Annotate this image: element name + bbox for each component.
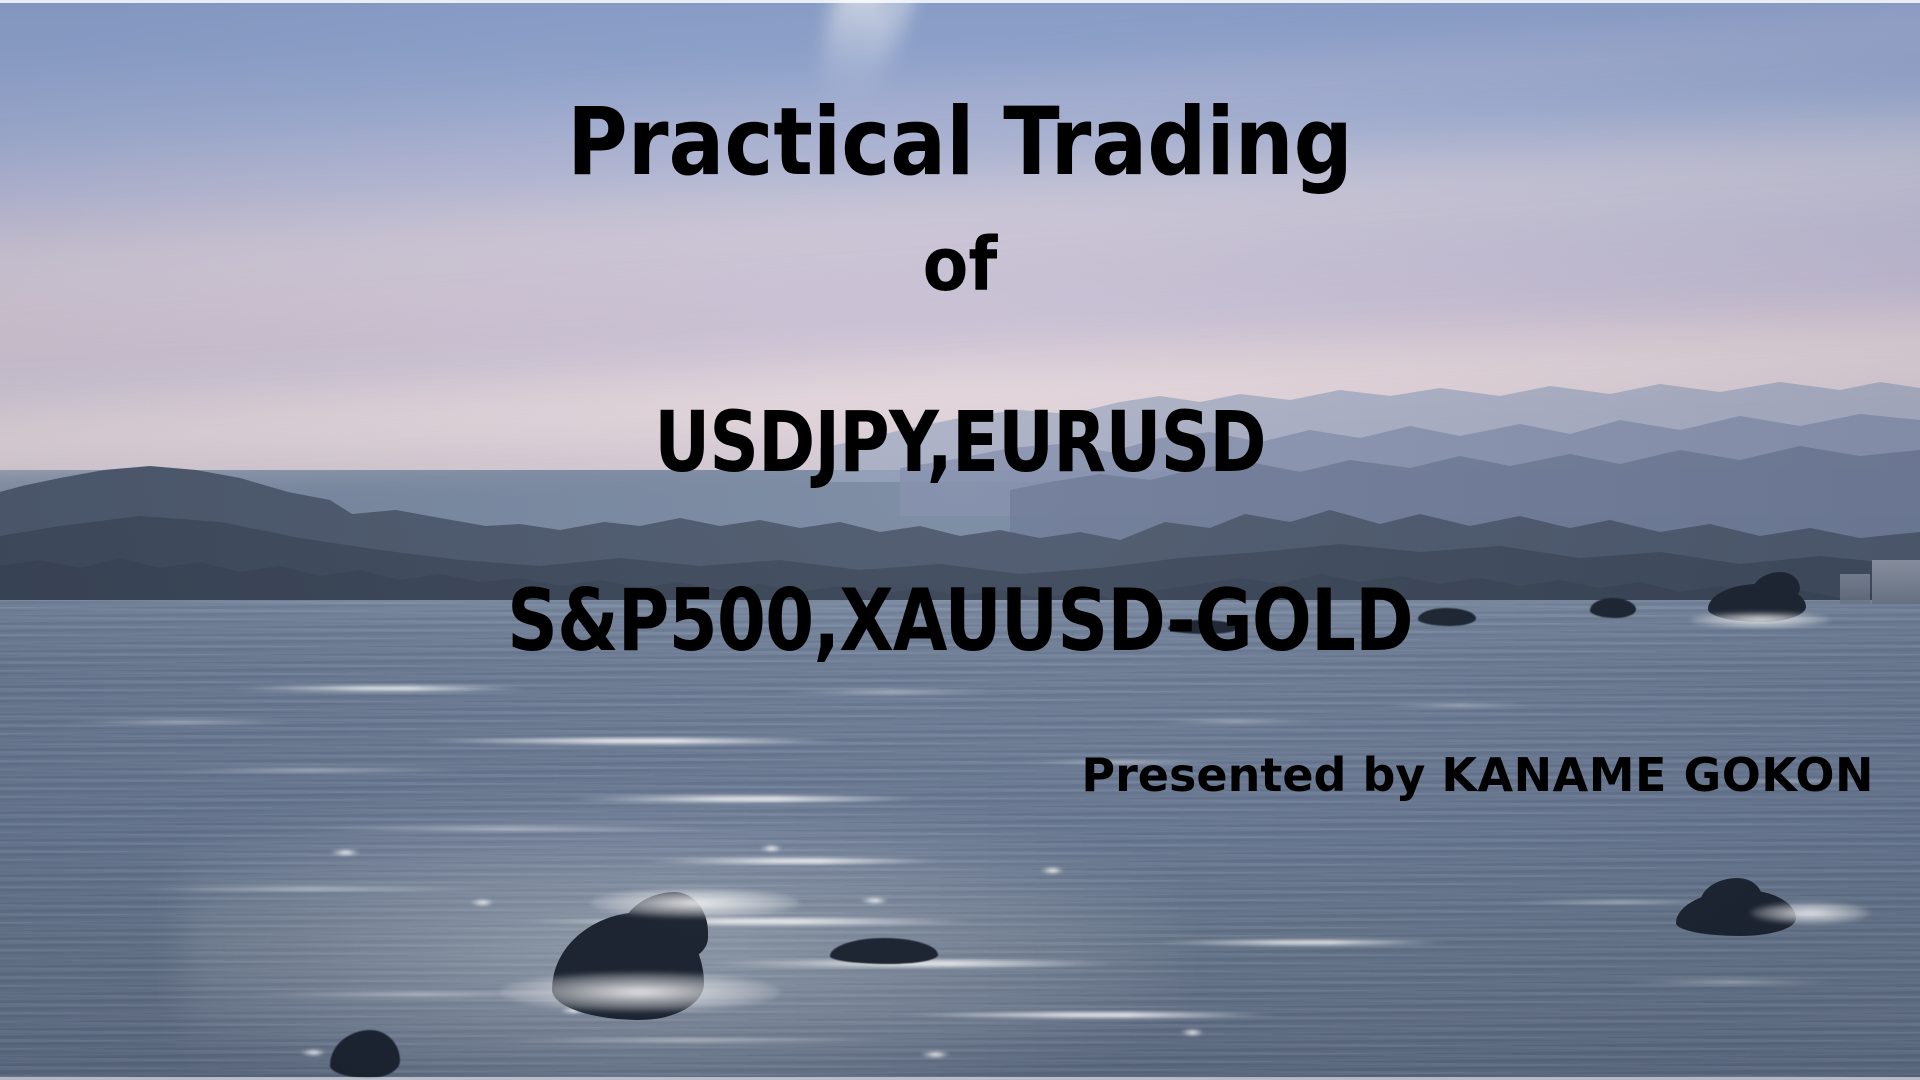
slide-text-layer: Practical Trading of USDJPY,EURUSD S&P50… (0, 0, 1920, 1080)
presenter-name: KANAME GOKON (1441, 748, 1874, 802)
title-slide: Practical Trading of USDJPY,EURUSD S&P50… (0, 0, 1920, 1080)
subject-line-indices-metals: S&P500,XAUUSD-GOLD (173, 578, 1747, 664)
subject-line-currency-pairs: USDJPY,EURUSD (173, 400, 1747, 484)
slide-title-line-2: of (96, 228, 1824, 302)
presenter-prefix: Presented by (1081, 748, 1441, 802)
slide-title-line-1: Practical Trading (115, 96, 1805, 190)
presenter-credit: Presented by KANAME GOKON (0, 752, 1920, 798)
